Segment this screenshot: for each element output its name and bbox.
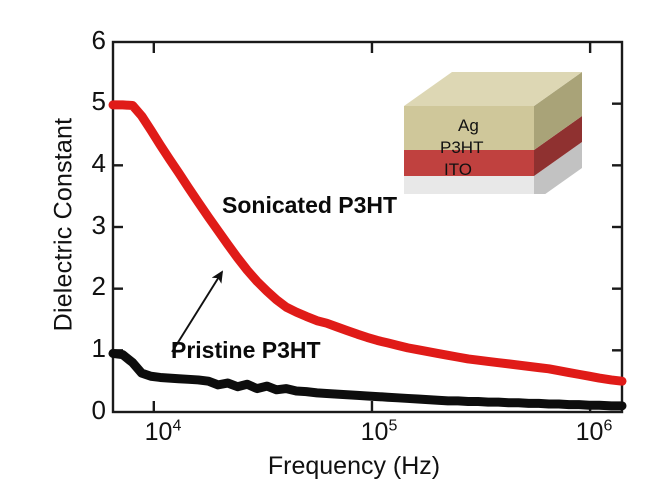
- inset-layer-label-ag: Ag: [458, 116, 479, 136]
- sonicated-series-label: Sonicated P3HT: [222, 192, 397, 219]
- inset-layer-label-p3ht: P3HT: [440, 138, 483, 158]
- dielectric-constant-figure: Dielectric Constant 6 5 4 3 2 1 0 104 10…: [0, 0, 652, 504]
- pristine-series-label: Pristine P3HT: [171, 337, 321, 364]
- inset-layer-label-ito: ITO: [444, 160, 472, 180]
- device-stack-svg: [398, 62, 610, 194]
- device-stack-diagram: Ag P3HT ITO: [398, 62, 610, 194]
